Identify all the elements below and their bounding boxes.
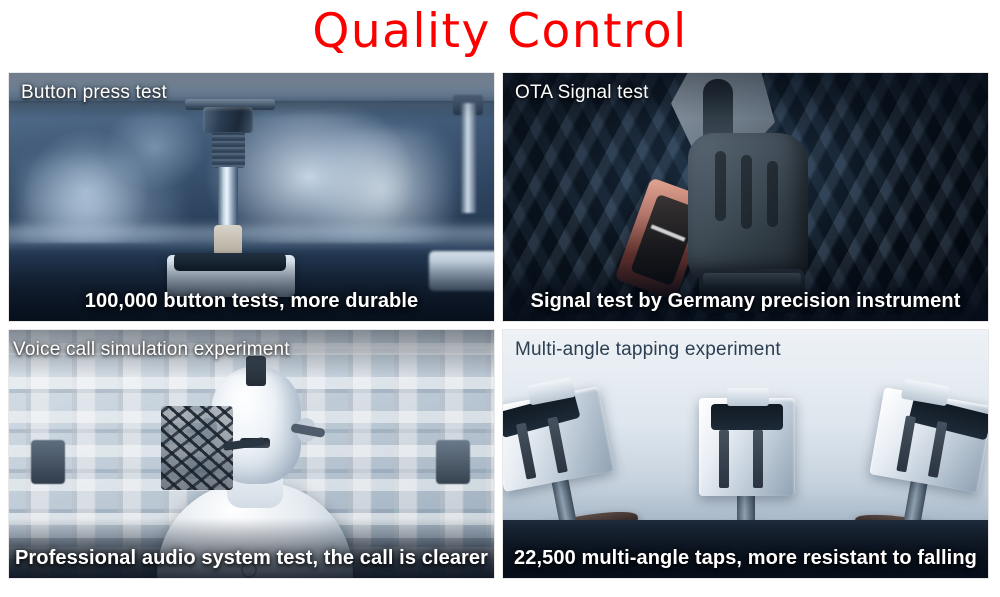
panel-ota-signal-test[interactable]: OTA Signal test Signal test by Germany p… [502, 72, 989, 322]
panel-caption-button-press-test: 100,000 button tests, more durable [9, 290, 494, 313]
panel-voice-call-simulation[interactable]: Voice call simulation experiment Profess… [8, 329, 495, 579]
panel-caption-multi-angle-tapping: 22,500 multi-angle taps, more resistant … [503, 547, 988, 570]
panel-label-ota-signal-test: OTA Signal test [515, 82, 649, 104]
page-title: Quality Control [0, 4, 1000, 60]
panel-caption-ota-signal-test: Signal test by Germany precision instrum… [503, 290, 988, 313]
panel-label-multi-angle-tapping: Multi-angle tapping experiment [515, 339, 781, 361]
panel-multi-angle-tapping[interactable]: Multi-angle tapping experiment 22,500 mu… [502, 329, 989, 579]
panel-label-button-press-test: Button press test [21, 82, 167, 104]
quality-control-panel-grid: Button press test 100,000 button tests, … [8, 72, 989, 586]
panel-caption-voice-call-simulation: Professional audio system test, the call… [9, 547, 494, 570]
panel-label-voice-call-simulation: Voice call simulation experiment [13, 339, 290, 361]
panel-button-press-test[interactable]: Button press test 100,000 button tests, … [8, 72, 495, 322]
